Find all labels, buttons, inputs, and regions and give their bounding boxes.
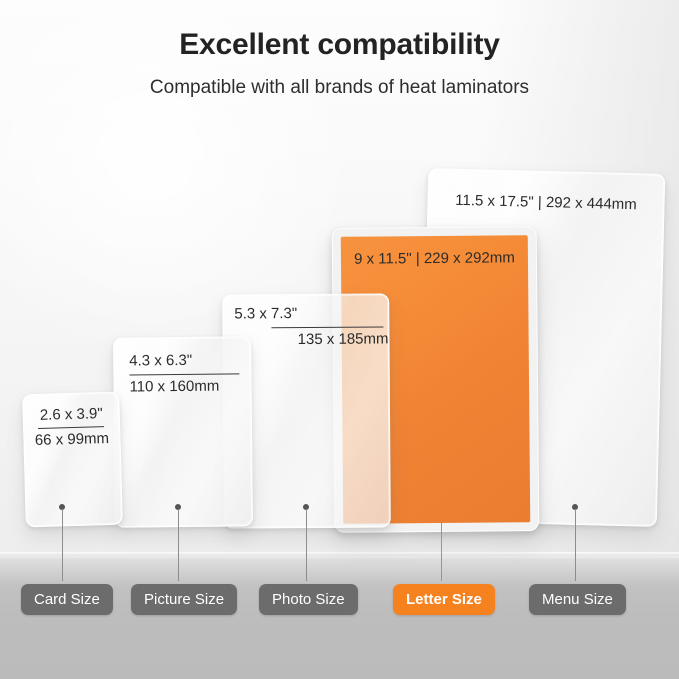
pouch-card-size[interactable]: 2.6 x 3.9" 66 x 99mm xyxy=(22,392,123,528)
callout-line-menu xyxy=(575,509,576,581)
callout-line-letter xyxy=(441,509,442,581)
callout-line-picture xyxy=(178,509,179,581)
page-title: Excellent compatibility xyxy=(0,28,679,62)
pouch-photo-inches: 5.3 x 7.3" xyxy=(223,304,399,322)
pouch-sheen xyxy=(23,393,122,527)
pouch-picture-divider xyxy=(129,373,239,375)
badge-menu-size[interactable]: Menu Size xyxy=(529,584,626,615)
callout-line-photo xyxy=(306,509,307,581)
callout-line-card xyxy=(62,509,63,581)
pouch-sheen xyxy=(114,337,252,526)
badge-picture-size[interactable]: Picture Size xyxy=(131,584,237,615)
product-infographic: Excellent compatibility Compatible with … xyxy=(0,0,679,679)
badge-photo-size[interactable]: Photo Size xyxy=(259,584,358,615)
badge-card-size[interactable]: Card Size xyxy=(21,584,113,615)
pouch-card-millimeters: 66 x 99mm xyxy=(24,430,119,450)
pouch-picture-millimeters: 110 x 160mm xyxy=(114,377,265,396)
pouch-menu-dimensions: 11.5 x 17.5" | 292 x 444mm xyxy=(428,191,663,214)
pouch-picture-size[interactable]: 4.3 x 6.3" 110 x 160mm xyxy=(113,336,253,527)
pouch-picture-inches: 4.3 x 6.3" xyxy=(114,351,265,370)
pouch-card-divider xyxy=(38,426,104,429)
floor-sheen xyxy=(0,556,679,586)
page-subtitle: Compatible with all brands of heat lamin… xyxy=(0,77,679,99)
pouch-card-inches: 2.6 x 3.9" xyxy=(24,405,119,425)
badge-letter-size[interactable]: Letter Size xyxy=(393,584,495,615)
pouch-photo-divider xyxy=(271,326,383,328)
